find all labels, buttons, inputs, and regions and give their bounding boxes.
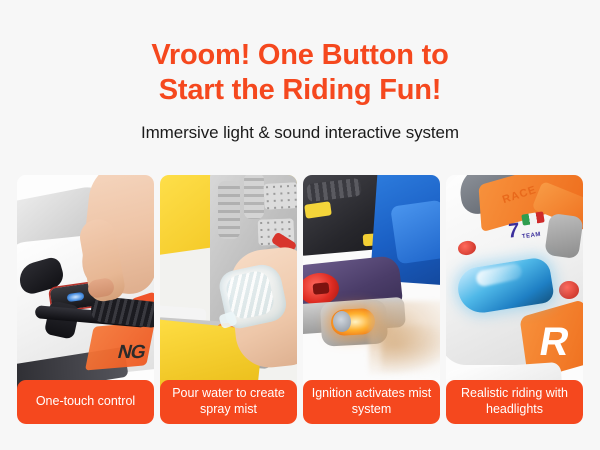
headline-line-1: Vroom! One Button to xyxy=(151,39,448,71)
panel2-vent-plate-upper xyxy=(263,182,297,210)
feature-panel-pour-water: Pour water to create spray mist xyxy=(160,175,297,424)
panel-caption: One-touch control xyxy=(17,380,154,424)
feature-panel-strip: NG One-touch control xyxy=(17,175,583,424)
panel3-blue-facet xyxy=(390,200,440,265)
header: Vroom! One Button to Start the Riding Fu… xyxy=(0,0,600,143)
feature-panel-headlights: R RACE 7 TEAM Realistic riding with head… xyxy=(446,175,583,424)
panel4-red-marker-light-right xyxy=(559,281,579,299)
panel3-mist-plume-secondary xyxy=(381,325,440,375)
panel-caption: Ignition activates mist system xyxy=(303,380,440,424)
panel4-decal-number: 7 xyxy=(508,220,519,242)
panel-caption: Realistic riding with headlights xyxy=(446,380,583,424)
panel1-decal-text: NG xyxy=(115,342,147,364)
panel3-red-cap-slot xyxy=(312,282,329,295)
page-subtitle: Immersive light & sound interactive syst… xyxy=(0,123,600,143)
headline-line-2: Start the Riding Fun! xyxy=(0,73,600,108)
page-title: Vroom! One Button to Start the Riding Fu… xyxy=(0,38,600,109)
panel-caption: Pour water to create spray mist xyxy=(160,380,297,424)
panel2-ribbed-cylinder-right xyxy=(244,175,264,219)
feature-panel-ignition-mist: Ignition activates mist system xyxy=(303,175,440,424)
panel2-ribbed-cylinder-left xyxy=(218,181,240,239)
feature-panel-one-touch-control: NG One-touch control xyxy=(17,175,154,424)
promo-page: Vroom! One Button to Start the Riding Fu… xyxy=(0,0,600,450)
panel4-side-vent xyxy=(544,213,583,259)
